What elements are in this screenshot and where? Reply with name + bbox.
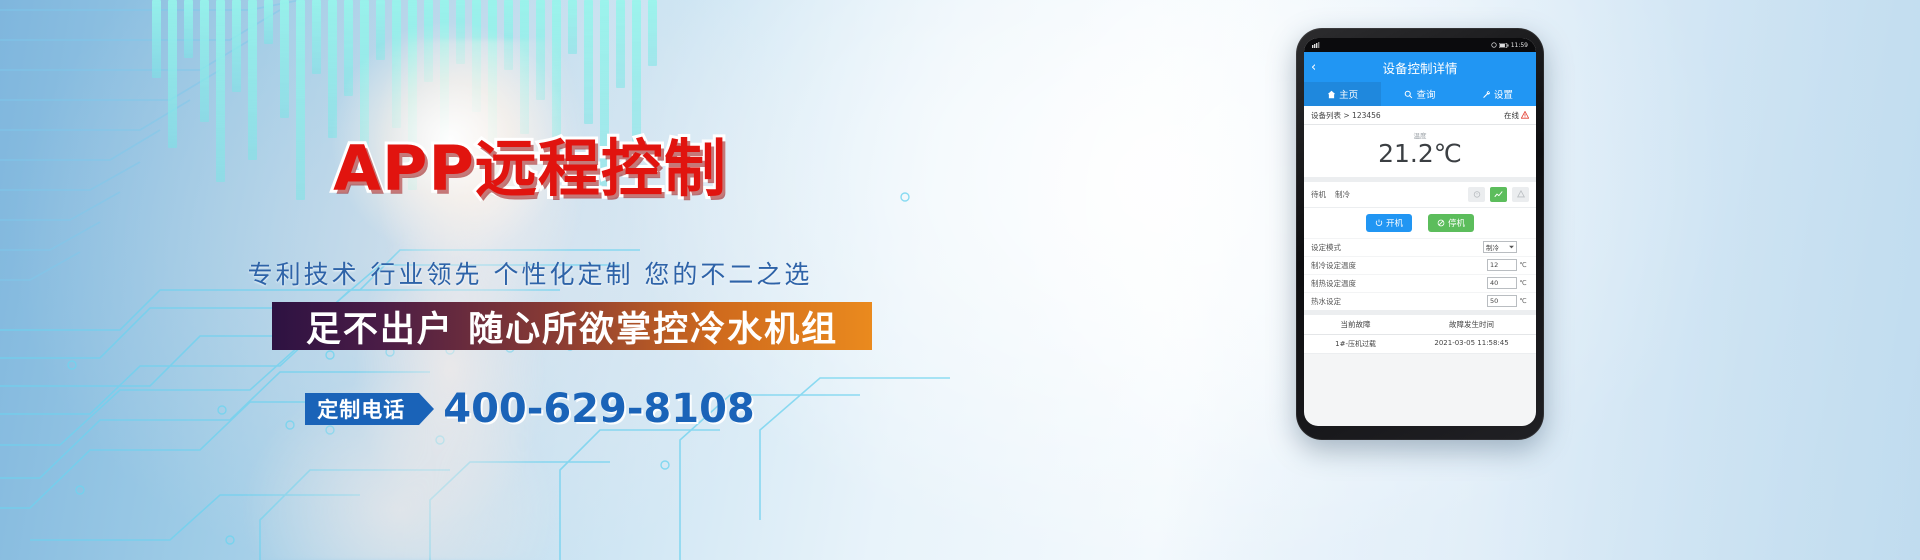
fault-cell-time: 2021-03-05 11:58:45 <box>1407 339 1536 349</box>
timer-icon-button[interactable] <box>1468 187 1485 202</box>
setting-label-heat-temp: 制热设定温度 <box>1311 278 1487 289</box>
power-button-row: 开机 停机 <box>1304 208 1536 238</box>
fault-cell-name: 1#-压机过载 <box>1304 339 1407 349</box>
phone-navbar: ‹ 设备控制详情 <box>1304 52 1536 82</box>
phone-mockup: 11:59 ‹ 设备控制详情 主页 <box>1296 28 1544 440</box>
location-icon <box>1491 42 1497 48</box>
fault-table: 当前故障 故障发生时间 1#-压机过载 2021-03-05 11:58:45 <box>1304 315 1536 354</box>
warning-icon <box>1521 111 1529 119</box>
tel-tag-arrow-icon <box>419 393 434 425</box>
chart-icon-button[interactable] <box>1490 187 1507 202</box>
fault-table-header: 当前故障 故障发生时间 <box>1304 315 1536 335</box>
temperature-value: 21.2℃ <box>1304 140 1536 169</box>
status-time: 11:59 <box>1511 42 1528 49</box>
stop-icon <box>1437 219 1445 227</box>
phone-status-bar: 11:59 <box>1304 38 1536 52</box>
power-off-label: 停机 <box>1448 217 1465 229</box>
power-on-button[interactable]: 开机 <box>1366 214 1412 232</box>
setting-unit-hotwater: ℃ <box>1517 297 1529 305</box>
page-title: APP远程控制 <box>0 138 1060 200</box>
signal-icon <box>1312 42 1320 48</box>
setting-label-cool-temp: 制冷设定温度 <box>1311 260 1487 271</box>
device-mode-label: 制冷 <box>1335 189 1350 200</box>
breadcrumb-text: 设备列表 > 123456 <box>1311 110 1381 121</box>
heat-temp-input[interactable]: 40 <box>1487 277 1517 289</box>
tab-home-label: 主页 <box>1339 87 1358 101</box>
temperature-card: 温度 21.2℃ <box>1304 125 1536 182</box>
mode-row: 待机 制冷 <box>1304 182 1536 208</box>
setting-row-cool-temp: 制冷设定温度 12 ℃ <box>1304 256 1536 274</box>
setting-row-hotwater: 热水设定 50 ℃ <box>1304 292 1536 310</box>
power-icon <box>1375 219 1383 227</box>
chart-icon <box>1494 190 1503 199</box>
tab-home[interactable]: 主页 <box>1304 82 1381 106</box>
alarm-icon <box>1517 190 1525 198</box>
setting-row-mode: 设定模式 制冷 <box>1304 238 1536 256</box>
phone-screen: 11:59 ‹ 设备控制详情 主页 <box>1304 38 1536 426</box>
hero-slogan-bar: 足不出户 随心所欲掌控冷水机组 <box>272 302 872 350</box>
battery-icon <box>1499 43 1509 48</box>
mode-select[interactable]: 制冷 <box>1483 241 1517 253</box>
back-icon[interactable]: ‹ <box>1311 61 1316 74</box>
hero-slogan-text: 足不出户 随心所欲掌控冷水机组 <box>306 301 838 352</box>
chevron-down-icon <box>1509 245 1514 249</box>
tab-settings[interactable]: 设置 <box>1459 82 1536 106</box>
status-right: 11:59 <box>1491 42 1528 49</box>
timer-icon <box>1473 190 1481 198</box>
power-off-button[interactable]: 停机 <box>1428 214 1474 232</box>
mode-icon-buttons <box>1468 187 1529 202</box>
alarm-icon-button[interactable] <box>1512 187 1529 202</box>
setting-unit-heat-temp: ℃ <box>1517 279 1529 287</box>
power-on-label: 开机 <box>1386 217 1403 229</box>
status-badge: 在线 <box>1504 110 1529 121</box>
status-badge-label: 在线 <box>1504 110 1519 121</box>
hero-text-block: APP远程控制 专利技术 行业领先 个性化定制 您的不二之选 足不出户 随心所欲… <box>0 0 1060 560</box>
promo-banner: APP远程控制 专利技术 行业领先 个性化定制 您的不二之选 足不出户 随心所欲… <box>0 0 1920 560</box>
mode-select-value: 制冷 <box>1486 242 1499 252</box>
hotwater-input[interactable]: 50 <box>1487 295 1517 307</box>
setting-label-mode: 设定模式 <box>1311 242 1483 253</box>
tel-tag: 定制电话 <box>305 393 419 425</box>
device-state-label: 待机 <box>1311 189 1326 200</box>
setting-unit-cool-temp: ℃ <box>1517 261 1529 269</box>
setting-row-heat-temp: 制热设定温度 40 ℃ <box>1304 274 1536 292</box>
phone-tab-bar: 主页 查询 设置 <box>1304 82 1536 106</box>
wrench-icon <box>1482 90 1491 99</box>
hero-subtitle: 专利技术 行业领先 个性化定制 您的不二之选 <box>0 255 1060 291</box>
tel-number[interactable]: 400-629-8108 <box>443 386 755 432</box>
fault-header-name: 当前故障 <box>1304 319 1407 330</box>
phone-nav-title: 设备控制详情 <box>1304 58 1536 77</box>
breadcrumb[interactable]: 设备列表 > 123456 在线 <box>1304 106 1536 125</box>
home-icon <box>1327 90 1336 99</box>
cool-temp-input[interactable]: 12 <box>1487 259 1517 271</box>
fault-header-time: 故障发生时间 <box>1407 319 1536 330</box>
contact-line: 定制电话 400-629-8108 <box>0 386 1060 432</box>
setting-label-hotwater: 热水设定 <box>1311 296 1487 307</box>
tab-query[interactable]: 查询 <box>1381 82 1458 106</box>
table-row[interactable]: 1#-压机过载 2021-03-05 11:58:45 <box>1304 335 1536 354</box>
tab-settings-label: 设置 <box>1494 87 1513 101</box>
search-icon <box>1404 90 1413 99</box>
status-left <box>1312 42 1320 48</box>
tab-query-label: 查询 <box>1416 87 1435 101</box>
tel-tag-label: 定制电话 <box>317 394 405 424</box>
page-title-text: APP远程控制 <box>333 138 727 200</box>
